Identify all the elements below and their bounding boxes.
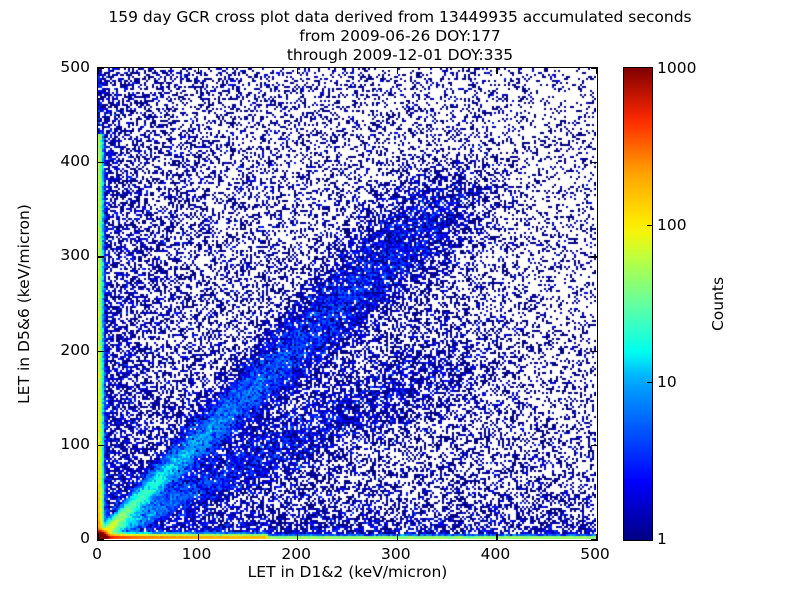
y-tick-mark [98, 539, 104, 540]
colorbar-tick-label: 10 [657, 373, 677, 391]
colorbar-tick-label: 100 [657, 216, 687, 234]
x-tick-label: 100 [182, 545, 212, 563]
x-tick-mark [397, 68, 398, 74]
x-tick-mark [297, 68, 298, 74]
y-tick-mark [591, 539, 597, 540]
x-tick-mark [397, 534, 398, 540]
colorbar-tick-label: 1000 [657, 59, 696, 77]
x-tick-mark [198, 68, 199, 74]
x-tick-mark [496, 534, 497, 540]
x-tick-label: 0 [92, 545, 102, 563]
x-tick-mark [198, 534, 199, 540]
y-tick-mark [98, 162, 104, 163]
scatter-density-plot [98, 68, 596, 539]
y-tick-label: 100 [35, 435, 90, 453]
y-tick-label: 500 [35, 58, 90, 76]
x-tick-mark [297, 534, 298, 540]
y-tick-mark [591, 256, 597, 257]
y-tick-label: 200 [35, 341, 90, 359]
colorbar-tick-mark [647, 225, 652, 226]
x-tick-label: 200 [281, 545, 311, 563]
y-axis-title: LET in D5&6 (keV/micron) [15, 204, 33, 404]
plot-area [97, 67, 598, 541]
x-tick-mark [496, 68, 497, 74]
x-tick-label: 500 [580, 545, 610, 563]
y-tick-mark [98, 351, 104, 352]
colorbar-gradient [624, 68, 652, 540]
colorbar-title: Counts [709, 277, 727, 331]
colorbar-tick-mark [647, 382, 652, 383]
y-tick-mark [591, 351, 597, 352]
y-tick-label: 400 [35, 152, 90, 170]
y-tick-mark [98, 445, 104, 446]
chart-title: 159 day GCR cross plot data derived from… [0, 8, 800, 65]
y-tick-mark [591, 162, 597, 163]
x-tick-label: 300 [381, 545, 411, 563]
colorbar [623, 67, 653, 541]
y-tick-label: 300 [35, 246, 90, 264]
y-tick-label: 0 [35, 529, 90, 547]
y-tick-mark [98, 256, 104, 257]
figure-canvas: 159 day GCR cross plot data derived from… [0, 0, 800, 600]
title-line-2: from 2009-06-26 DOY:177 [0, 27, 800, 46]
title-line-1: 159 day GCR cross plot data derived from… [0, 8, 800, 27]
y-tick-mark [98, 68, 104, 69]
x-axis-title: LET in D1&2 (keV/micron) [97, 563, 598, 581]
x-tick-label: 400 [481, 545, 511, 563]
y-tick-mark [591, 68, 597, 69]
colorbar-tick-label: 1 [657, 530, 667, 548]
y-tick-mark [591, 445, 597, 446]
